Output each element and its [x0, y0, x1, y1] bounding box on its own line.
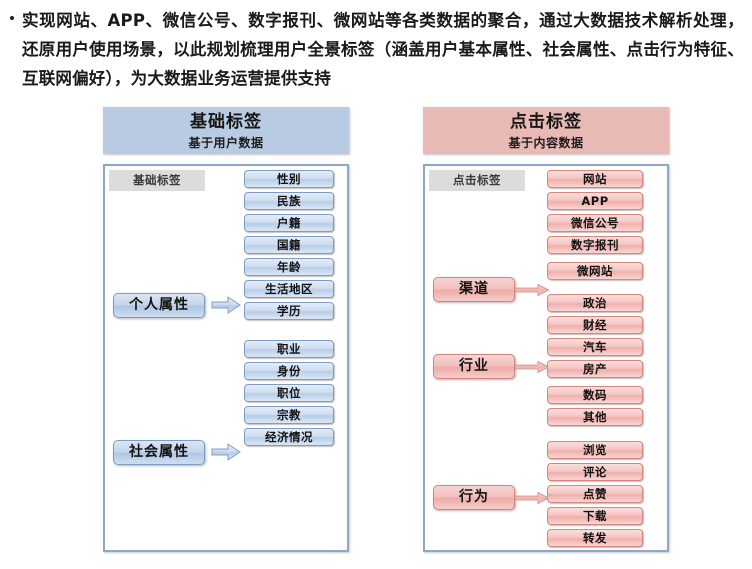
- chip-real-estate[interactable]: 房产: [547, 360, 643, 378]
- chip-economic-status[interactable]: 经济情况: [244, 428, 334, 446]
- group-label-behavior[interactable]: 行为: [433, 485, 515, 510]
- group-label-channel[interactable]: 渠道: [433, 277, 515, 302]
- chip-like[interactable]: 点赞: [547, 485, 643, 503]
- chip-religion[interactable]: 宗教: [244, 406, 334, 424]
- chip-digital-press[interactable]: 数字报刊: [547, 236, 643, 254]
- chip-gender[interactable]: 性别: [244, 170, 334, 188]
- chip-finance[interactable]: 财经: [547, 316, 643, 334]
- group-label-industry[interactable]: 行业: [433, 354, 515, 379]
- panel-click-subtitle: 基于内容数据: [423, 135, 669, 151]
- panel-basic-corner-tag: 基础标签: [109, 170, 205, 191]
- group-label-social-attributes[interactable]: 社会属性: [113, 440, 205, 465]
- arrow-right-icon: [211, 296, 241, 314]
- chip-occupation[interactable]: 职业: [244, 340, 334, 358]
- intro-text: 实现网站、APP、微信公号、数字报刊、微网站等各类数据的聚合，通过大数据技术解析…: [22, 6, 744, 93]
- chip-nationality[interactable]: 国籍: [244, 236, 334, 254]
- chip-automobile[interactable]: 汽车: [547, 338, 643, 356]
- chip-residency[interactable]: 户籍: [244, 214, 334, 232]
- chip-app[interactable]: APP: [547, 192, 643, 210]
- chip-download[interactable]: 下载: [547, 507, 643, 525]
- chip-age[interactable]: 年龄: [244, 258, 334, 276]
- chip-share[interactable]: 转发: [547, 529, 643, 547]
- chip-comment[interactable]: 评论: [547, 463, 643, 481]
- chip-living-area[interactable]: 生活地区: [244, 280, 334, 298]
- panel-click-title: 点击标签: [423, 107, 669, 135]
- chip-politics[interactable]: 政治: [547, 294, 643, 312]
- chip-ethnicity[interactable]: 民族: [244, 192, 334, 210]
- chip-wechat-official[interactable]: 微信公号: [547, 214, 643, 232]
- panel-click-header: 点击标签 基于内容数据: [423, 107, 669, 154]
- panel-click-body: 点击标签 渠道 网站 APP 微信公号 数字报刊 微网站 行业 政治 财经 汽车…: [423, 164, 669, 552]
- group-label-personal-attributes[interactable]: 个人属性: [113, 293, 205, 318]
- chip-digital[interactable]: 数码: [547, 386, 643, 404]
- intro-paragraph: 实现网站、APP、微信公号、数字报刊、微网站等各类数据的聚合，通过大数据技术解析…: [8, 6, 744, 93]
- chip-job-title[interactable]: 职位: [244, 384, 334, 402]
- panel-click-corner-tag: 点击标签: [429, 170, 525, 191]
- chip-browse[interactable]: 浏览: [547, 441, 643, 459]
- arrow-right-icon: [515, 492, 549, 504]
- arrow-right-icon: [211, 443, 241, 461]
- chip-website[interactable]: 网站: [547, 170, 643, 188]
- chip-education[interactable]: 学历: [244, 302, 334, 320]
- arrow-right-icon: [515, 284, 549, 296]
- panel-basic-body: 基础标签 个人属性 性别 民族 户籍 国籍 年龄 生活地区 学历 社会属性 职业…: [103, 164, 349, 552]
- chip-others[interactable]: 其他: [547, 408, 643, 426]
- bullet-point-icon: [10, 16, 14, 20]
- panel-basic-title: 基础标签: [103, 107, 349, 135]
- chip-identity[interactable]: 身份: [244, 362, 334, 380]
- panel-basic-header: 基础标签 基于用户数据: [103, 107, 349, 154]
- panel-basic-subtitle: 基于用户数据: [103, 135, 349, 151]
- arrow-right-icon: [515, 361, 549, 373]
- chip-micro-site[interactable]: 微网站: [547, 262, 643, 280]
